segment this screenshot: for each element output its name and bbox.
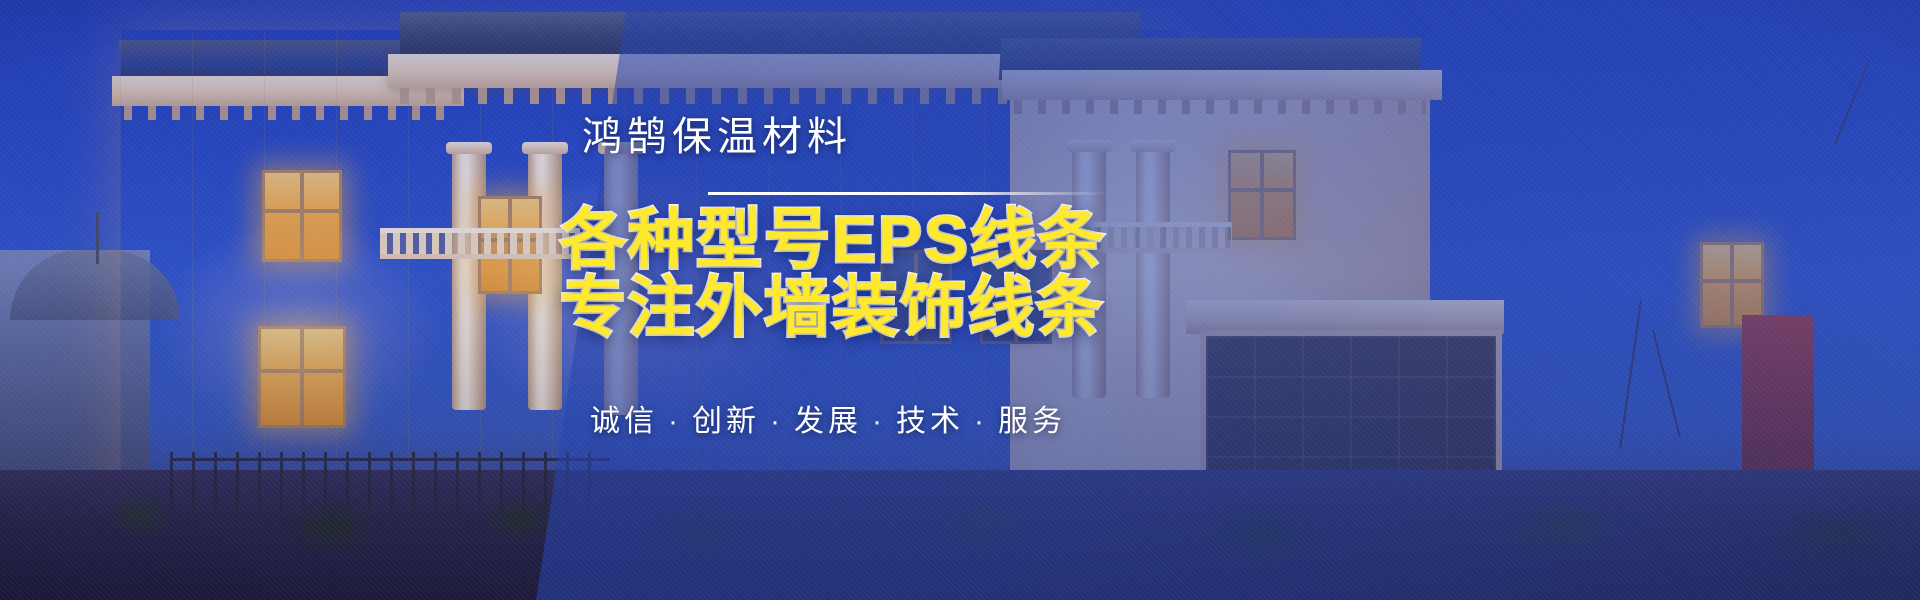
tagline-item: 技术 [896, 405, 964, 438]
tagline-item: 创新 [692, 405, 760, 438]
tagline-item: 诚信 [590, 405, 658, 438]
tagline: 诚信·创新·发展·技术·服务 [590, 396, 1066, 440]
tagline-item: 服务 [998, 405, 1066, 438]
tagline-separator: · [862, 405, 896, 438]
tagline-separator: · [760, 405, 794, 438]
promotional-banner: 鸿鹄保温材料 各种型号EPS线条 专注外墙装饰线条 诚信·创新·发展·技术·服务 [0, 0, 1920, 600]
tagline-separator: · [964, 405, 998, 438]
headline-line-2: 专注外墙装饰线条 [560, 254, 1104, 350]
banner-text-block: 鸿鹄保温材料 各种型号EPS线条 专注外墙装饰线条 诚信·创新·发展·技术·服务 [560, 0, 1460, 600]
tagline-item: 发展 [794, 405, 862, 438]
tagline-separator: · [658, 405, 692, 438]
company-name: 鸿鹄保温材料 [582, 104, 852, 162]
